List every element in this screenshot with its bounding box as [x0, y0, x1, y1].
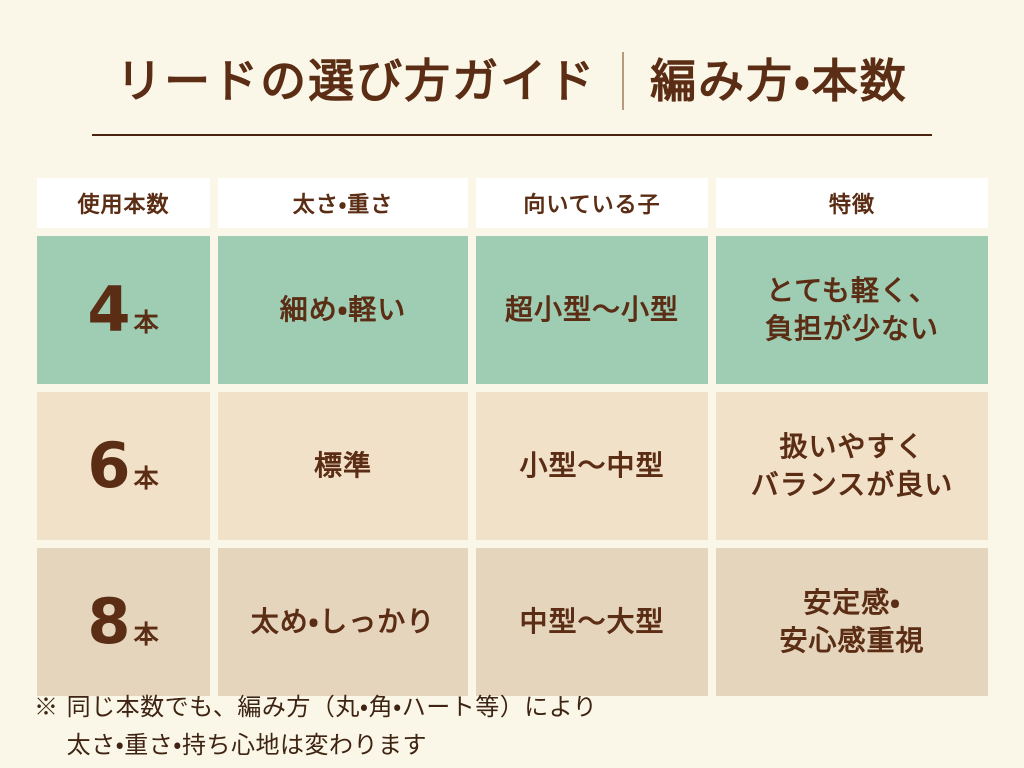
- title-row: リードの選び方ガイド 編み方・本数: [0, 52, 1024, 110]
- table-row: 6本 標準 小型〜中型 扱いやすく バランスが良い: [37, 392, 986, 540]
- page-title: リードの選び方ガイド 編み方・本数: [0, 52, 1024, 110]
- count-number: 6: [87, 435, 130, 497]
- cell-suited-for: 小型〜中型: [476, 392, 708, 540]
- count-value: 8本: [87, 591, 159, 653]
- count-value: 4本: [87, 279, 159, 341]
- table-header-cell-thickness: 太さ・重さ: [218, 178, 468, 228]
- table-header-cell-features: 特徴: [716, 178, 988, 228]
- cell-count: 4本: [37, 236, 210, 384]
- count-unit: 本: [134, 466, 160, 491]
- cell-thickness: 細め・軽い: [218, 236, 468, 384]
- count-number: 4: [87, 279, 130, 341]
- title-underline-rule: [92, 134, 932, 136]
- comparison-table: 使用本数 太さ・重さ 向いている子 特徴 4本 細め・軽い 超小型〜小型 とても…: [37, 178, 986, 696]
- cell-suited-for: 中型〜大型: [476, 548, 708, 696]
- table-row: 4本 細め・軽い 超小型〜小型 とても軽く、 負担が少ない: [37, 236, 986, 384]
- count-number: 8: [87, 591, 130, 653]
- table-row: 8本 太め・しっかり 中型〜大型 安定感・ 安心感重視: [37, 548, 986, 696]
- table-header-cell-count: 使用本数: [37, 178, 210, 228]
- cell-features: 扱いやすく バランスが良い: [716, 392, 988, 540]
- count-unit: 本: [134, 310, 160, 335]
- cell-thickness: 標準: [218, 392, 468, 540]
- cell-count: 6本: [37, 392, 210, 540]
- count-value: 6本: [87, 435, 159, 497]
- cell-features: 安定感・ 安心感重視: [716, 548, 988, 696]
- count-unit: 本: [134, 622, 160, 647]
- cell-count: 8本: [37, 548, 210, 696]
- table-header-cell-suited-for: 向いている子: [476, 178, 708, 228]
- title-sub-text: 編み方・本数: [624, 58, 908, 104]
- cell-suited-for: 超小型〜小型: [476, 236, 708, 384]
- title-main-text: リードの選び方ガイド: [116, 58, 622, 104]
- footnote-text: ※ 同じ本数でも、編み方（丸・角・ハート等）により 太さ・重さ・持ち心地は変わり…: [34, 688, 974, 765]
- table-header-row: 使用本数 太さ・重さ 向いている子 特徴: [37, 178, 986, 228]
- cell-thickness: 太め・しっかり: [218, 548, 468, 696]
- cell-features: とても軽く、 負担が少ない: [716, 236, 988, 384]
